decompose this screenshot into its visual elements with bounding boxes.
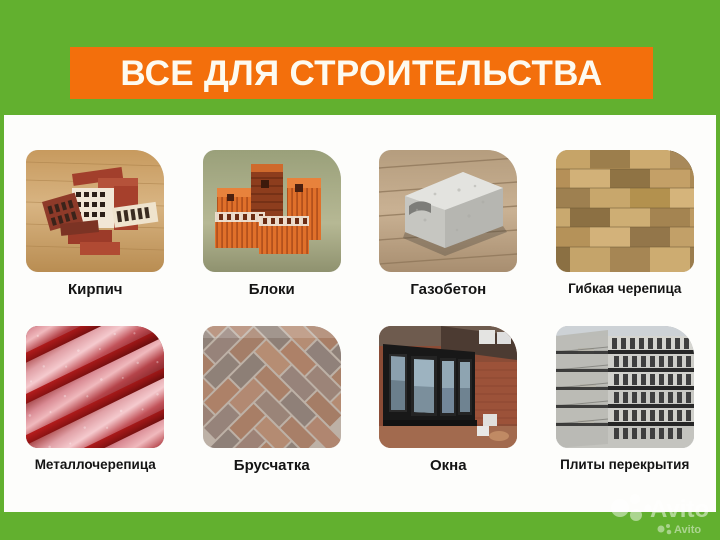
product-label: Кирпич [68, 282, 123, 299]
product-card-paving-stone[interactable]: Брусчатка [187, 326, 358, 496]
product-card-blocks[interactable]: Блоки [187, 150, 358, 320]
poster-title: ВСЕ ДЛЯ СТРОИТЕЛЬСТВА [120, 56, 602, 91]
metal-tile-photo [26, 326, 164, 448]
product-card-metal-tile[interactable]: Металлочерепица [10, 326, 181, 496]
bricks-photo [26, 150, 164, 272]
product-card-soft-shingles[interactable]: Гибкая черепица [540, 150, 711, 320]
product-label: Окна [430, 458, 467, 475]
green-right-border [716, 0, 720, 540]
product-label: Плиты перекрытия [560, 458, 689, 473]
product-label: Блоки [249, 282, 295, 299]
green-left-border [0, 0, 4, 540]
soft-shingles-photo [556, 150, 694, 272]
windows-photo [379, 326, 517, 448]
product-grid: Кирпич [10, 150, 710, 495]
product-label: Гибкая черепица [568, 282, 681, 297]
floor-slabs-photo [556, 326, 694, 448]
product-label: Газобетон [410, 282, 486, 299]
product-card-windows[interactable]: Окна [363, 326, 534, 496]
product-card-aerated-concrete[interactable]: Газобетон [363, 150, 534, 320]
green-footer-band [0, 512, 720, 540]
product-card-floor-slabs[interactable]: Плиты перекрытия [540, 326, 711, 496]
advertisement-poster: ВСЕ ДЛЯ СТРОИТЕЛЬСТВА [0, 0, 720, 540]
product-card-brick[interactable]: Кирпич [10, 150, 181, 320]
paving-stone-photo [203, 326, 341, 448]
title-banner: ВСЕ ДЛЯ СТРОИТЕЛЬСТВА [70, 47, 653, 99]
product-label: Брусчатка [234, 458, 310, 475]
ceramic-blocks-photo [203, 150, 341, 272]
product-label: Металлочерепица [35, 458, 156, 473]
aerated-concrete-photo [379, 150, 517, 272]
